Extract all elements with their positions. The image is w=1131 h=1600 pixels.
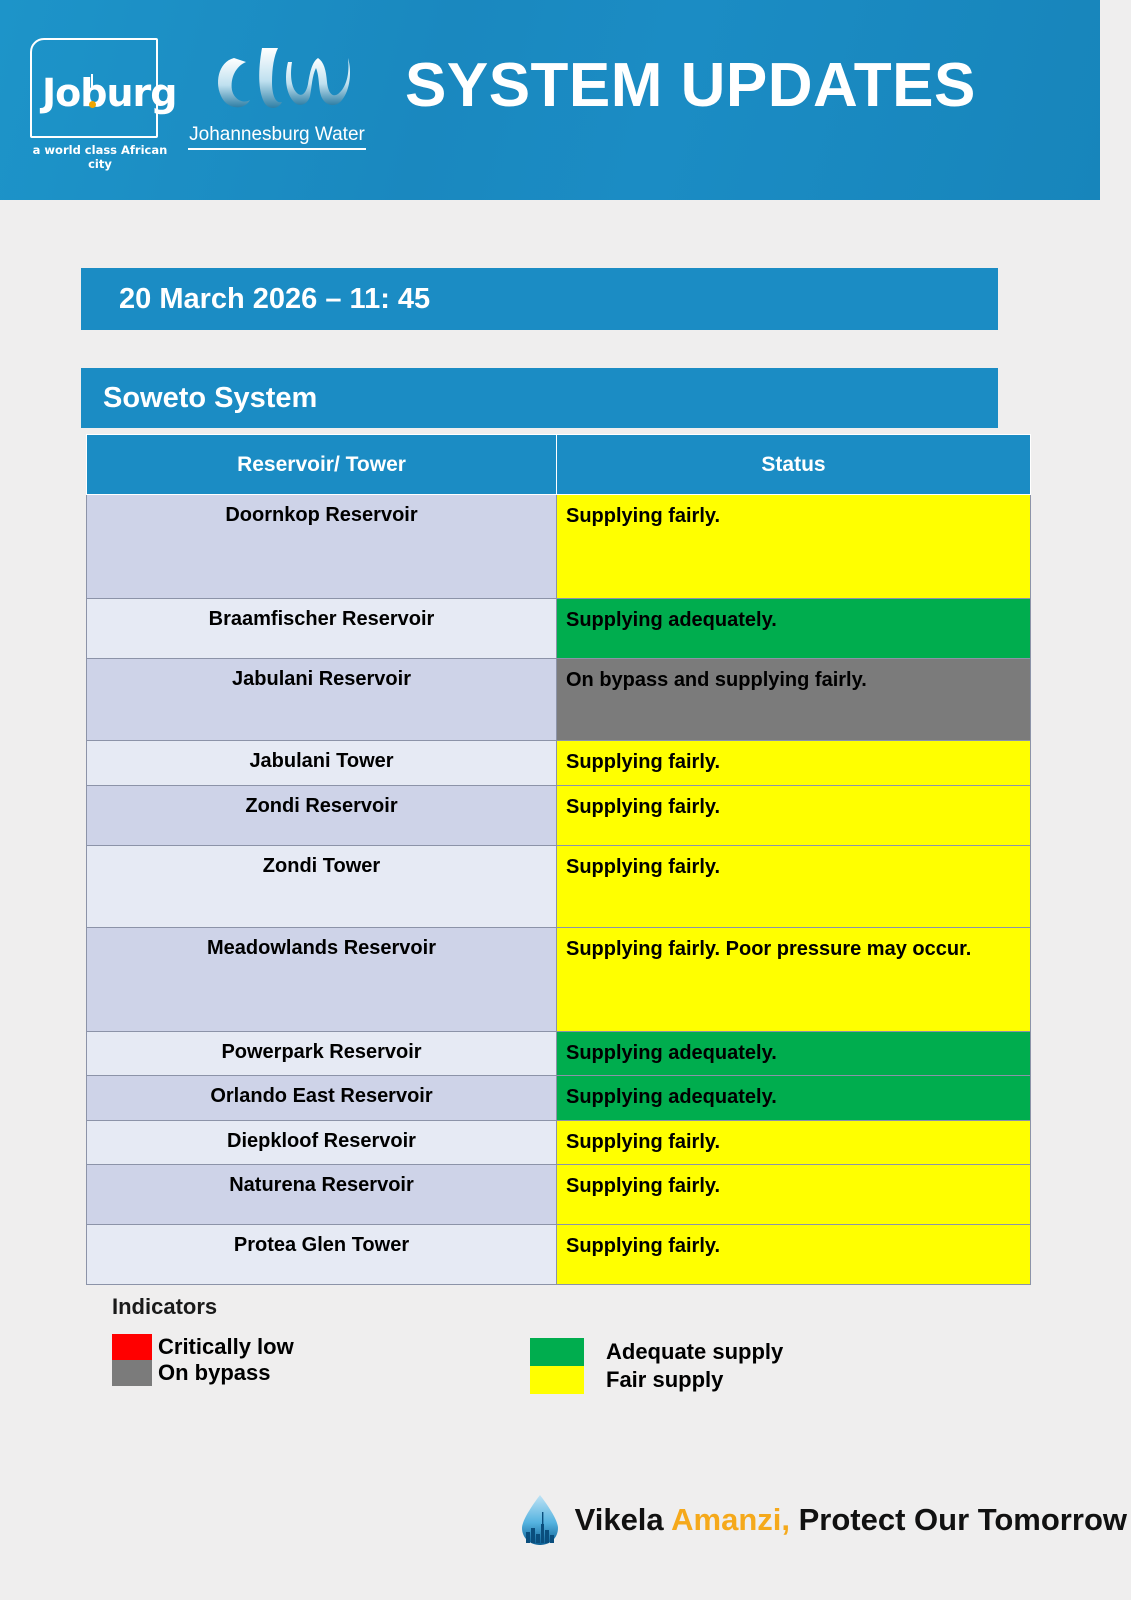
- cell-status: Supplying fairly.: [557, 845, 1031, 927]
- header-banner: Joburg a world class African city Johann…: [0, 0, 1100, 200]
- system-name-bar: Soweto System: [81, 368, 998, 428]
- legend-label-on-bypass: On bypass: [158, 1360, 270, 1386]
- table-row: Meadowlands ReservoirSupplying fairly. P…: [87, 927, 1031, 1031]
- page-title: SYSTEM UPDATES: [405, 50, 976, 121]
- water-drop-city-icon: [519, 1494, 561, 1546]
- table-header-row: Reservoir/ Tower Status: [87, 435, 1031, 495]
- legend-label-fair-supply: Fair supply: [606, 1367, 723, 1393]
- cell-reservoir-name: Meadowlands Reservoir: [87, 927, 557, 1031]
- cell-status: Supplying adequately.: [557, 599, 1031, 659]
- cell-status: Supplying fairly.: [557, 741, 1031, 786]
- cell-status: Supplying fairly.: [557, 785, 1031, 845]
- footer-text-part1: Vikela: [575, 1502, 672, 1537]
- table-row: Zondi TowerSupplying fairly.: [87, 845, 1031, 927]
- cell-status: Supplying fairly.: [557, 1165, 1031, 1225]
- cell-reservoir-name: Diepkloof Reservoir: [87, 1120, 557, 1165]
- table-row: Diepkloof ReservoirSupplying fairly.: [87, 1120, 1031, 1165]
- table-body: Doornkop ReservoirSupplying fairly.Braam…: [87, 495, 1031, 1285]
- cell-reservoir-name: Doornkop Reservoir: [87, 495, 557, 599]
- legend-item: Adequate supply: [530, 1338, 783, 1366]
- legend-item: On bypass: [112, 1360, 294, 1386]
- cell-status: Supplying fairly.: [557, 495, 1031, 599]
- table-row: Jabulani TowerSupplying fairly.: [87, 741, 1031, 786]
- joburg-logo: Joburg a world class African city: [30, 38, 170, 163]
- cell-reservoir-name: Naturena Reservoir: [87, 1165, 557, 1225]
- legend-item: Critically low: [112, 1334, 294, 1360]
- indicators-right-column: Adequate supply Fair supply: [530, 1338, 783, 1394]
- joburg-logo-tower-icon: [91, 74, 93, 90]
- cell-status: Supplying fairly.: [557, 1120, 1031, 1165]
- footer-slogan: Vikela Amanzi, Protect Our Tomorrow: [0, 1494, 1131, 1546]
- cell-status: Supplying fairly. Poor pressure may occu…: [557, 927, 1031, 1031]
- cell-reservoir-name: Zondi Tower: [87, 845, 557, 927]
- footer-text-highlight: Amanzi,: [671, 1502, 790, 1537]
- table-row: Zondi ReservoirSupplying fairly.: [87, 785, 1031, 845]
- system-name-label: Soweto System: [81, 382, 317, 415]
- reservoir-status-table: Reservoir/ Tower Status Doornkop Reservo…: [86, 434, 1031, 1285]
- legend-swatch-adequate-supply: [530, 1338, 584, 1366]
- cell-reservoir-name: Braamfischer Reservoir: [87, 599, 557, 659]
- table-row: Jabulani ReservoirOn bypass and supplyin…: [87, 659, 1031, 741]
- legend-label-adequate-supply: Adequate supply: [606, 1339, 783, 1365]
- legend-item: Fair supply: [530, 1366, 783, 1394]
- legend-swatch-fair-supply: [530, 1366, 584, 1394]
- table-row: Braamfischer ReservoirSupplying adequate…: [87, 599, 1031, 659]
- johannesburg-water-label: Johannesburg Water: [188, 124, 366, 150]
- cell-reservoir-name: Orlando East Reservoir: [87, 1076, 557, 1121]
- indicators-legend: Indicators Critically low On bypass Adeq…: [112, 1294, 1012, 1404]
- table-row: Orlando East ReservoirSupplying adequate…: [87, 1076, 1031, 1121]
- cell-status: On bypass and supplying fairly.: [557, 659, 1031, 741]
- joburg-logo-tagline: a world class African city: [30, 143, 170, 171]
- cell-reservoir-name: Powerpark Reservoir: [87, 1031, 557, 1076]
- table-row: Doornkop ReservoirSupplying fairly.: [87, 495, 1031, 599]
- cell-reservoir-name: Jabulani Reservoir: [87, 659, 557, 741]
- column-header-status: Status: [557, 435, 1031, 495]
- indicators-title: Indicators: [112, 1294, 1012, 1320]
- legend-swatch-critically-low: [112, 1334, 152, 1360]
- cell-status: Supplying adequately.: [557, 1031, 1031, 1076]
- table-row: Powerpark ReservoirSupplying adequately.: [87, 1031, 1031, 1076]
- water-wave-icon: [188, 40, 366, 126]
- cell-reservoir-name: Jabulani Tower: [87, 741, 557, 786]
- johannesburg-water-logo: Johannesburg Water: [188, 40, 366, 160]
- cell-reservoir-name: Zondi Reservoir: [87, 785, 557, 845]
- date-time-label: 20 March 2026 – 11: 45: [81, 283, 430, 316]
- footer-text: Vikela Amanzi, Protect Our Tomorrow: [575, 1502, 1127, 1538]
- table-row: Naturena ReservoirSupplying fairly.: [87, 1165, 1031, 1225]
- cell-status: Supplying fairly.: [557, 1225, 1031, 1285]
- legend-swatch-on-bypass: [112, 1360, 152, 1386]
- footer-text-part2: Protect Our Tomorrow: [790, 1502, 1127, 1537]
- legend-label-critically-low: Critically low: [158, 1334, 294, 1360]
- cell-status: Supplying adequately.: [557, 1076, 1031, 1121]
- indicators-left-column: Critically low On bypass: [112, 1334, 294, 1386]
- cell-reservoir-name: Protea Glen Tower: [87, 1225, 557, 1285]
- table-row: Protea Glen TowerSupplying fairly.: [87, 1225, 1031, 1285]
- column-header-reservoir: Reservoir/ Tower: [87, 435, 557, 495]
- joburg-logo-wordmark: Joburg: [42, 71, 176, 115]
- date-time-bar: 20 March 2026 – 11: 45: [81, 268, 998, 330]
- joburg-logo-dot-icon: [89, 101, 96, 108]
